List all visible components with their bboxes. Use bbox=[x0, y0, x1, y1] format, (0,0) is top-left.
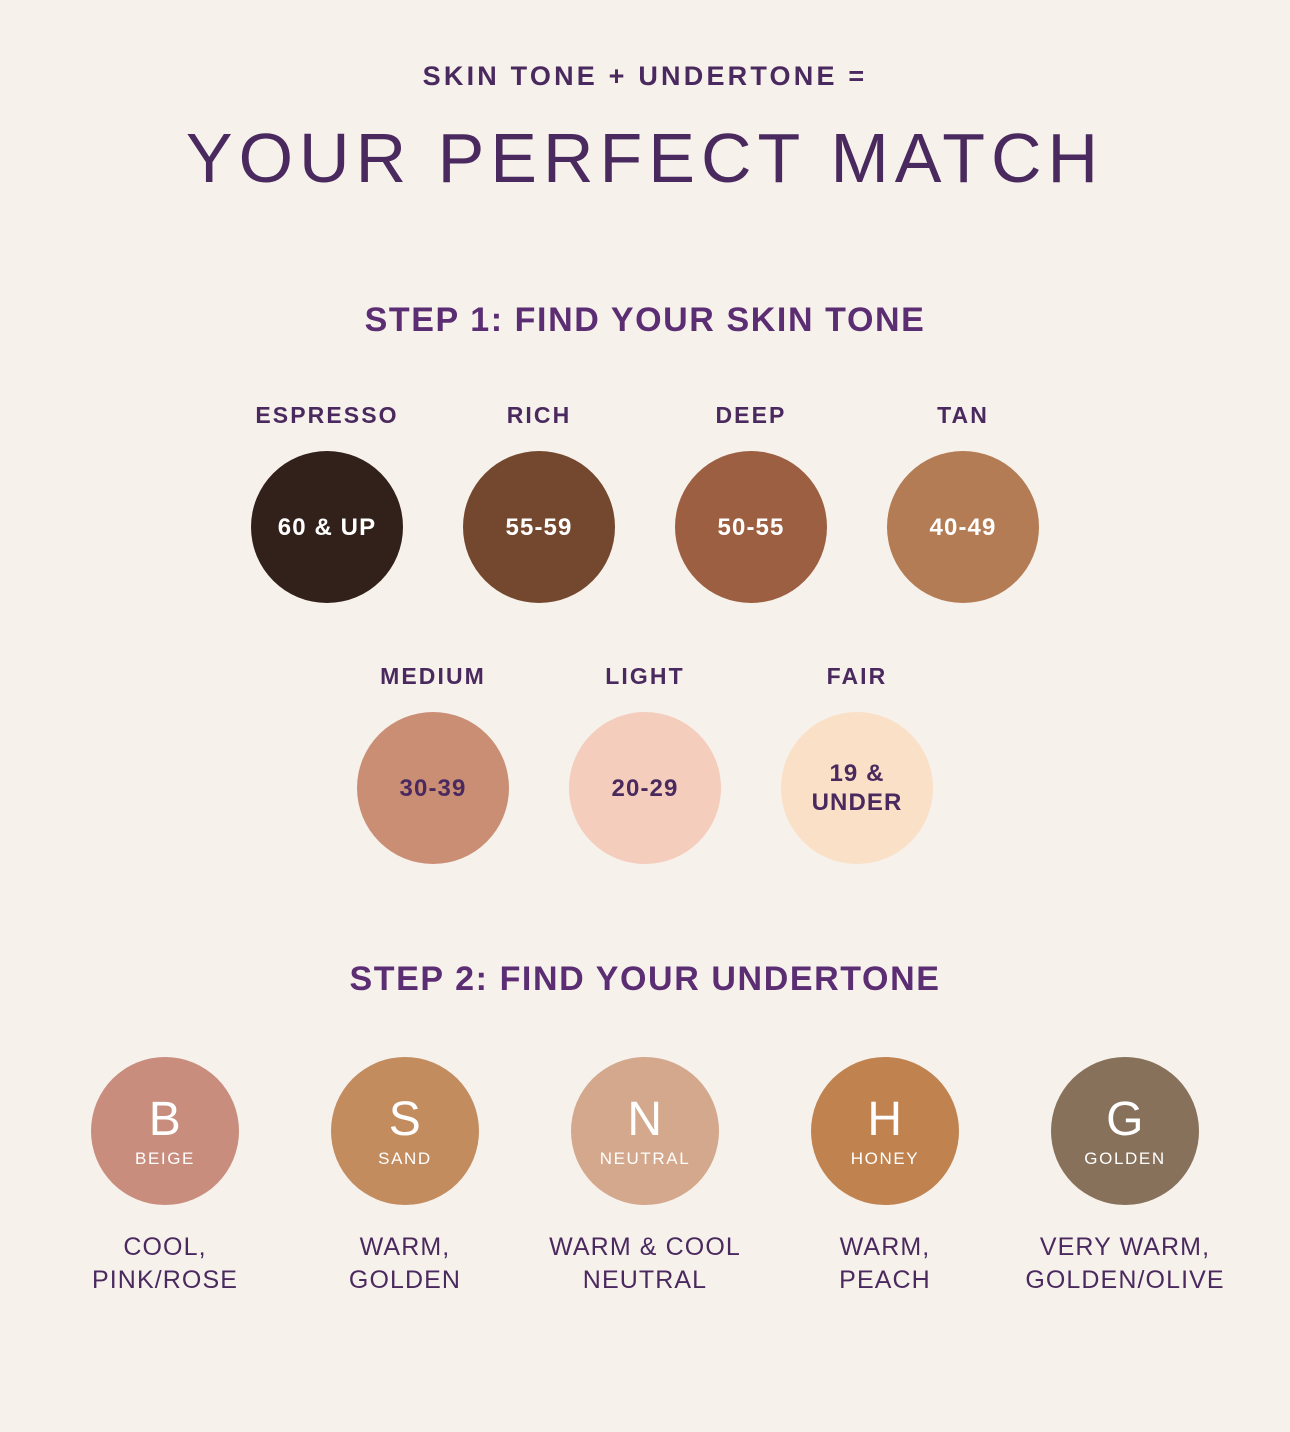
skin-tone-label: MEDIUM bbox=[380, 663, 486, 690]
undertone-swatch[interactable]: BBEIGE bbox=[91, 1057, 239, 1205]
undertone-letter: G bbox=[1106, 1096, 1144, 1144]
page-title: YOUR PERFECT MATCH bbox=[0, 122, 1290, 196]
skin-tone-swatch[interactable]: 30-39 bbox=[357, 712, 509, 864]
skin-tone-range: 40-49 bbox=[924, 513, 1003, 542]
undertone-item-sand[interactable]: SSANDWARM, GOLDEN bbox=[306, 1057, 504, 1297]
undertone-name: NEUTRAL bbox=[600, 1150, 691, 1167]
skin-tone-range: 20-29 bbox=[606, 774, 685, 803]
undertone-swatch[interactable]: NNEUTRAL bbox=[571, 1057, 719, 1205]
skin-tone-item-tan[interactable]: TAN40-49 bbox=[887, 402, 1039, 603]
skin-tone-range: 50-55 bbox=[712, 513, 791, 542]
skin-tone-item-fair[interactable]: FAIR19 & UNDER bbox=[781, 663, 933, 864]
skin-tone-label: ESPRESSO bbox=[255, 402, 398, 429]
skin-tone-range: 30-39 bbox=[394, 774, 473, 803]
skin-tone-label: DEEP bbox=[715, 402, 786, 429]
undertone-item-honey[interactable]: HHONEYWARM, PEACH bbox=[786, 1057, 984, 1297]
undertone-letter: B bbox=[149, 1096, 182, 1144]
undertone-name: HONEY bbox=[851, 1150, 919, 1167]
undertone-description: WARM & COOL NEUTRAL bbox=[549, 1231, 741, 1297]
undertone-name: BEIGE bbox=[135, 1150, 195, 1167]
skin-tone-row-1: ESPRESSO60 & UPRICH55-59DEEP50-55TAN40-4… bbox=[0, 402, 1290, 603]
skin-tone-swatch[interactable]: 20-29 bbox=[569, 712, 721, 864]
skin-tone-item-medium[interactable]: MEDIUM30-39 bbox=[357, 663, 509, 864]
skin-tone-range: 55-59 bbox=[500, 513, 579, 542]
undertone-swatch[interactable]: SSAND bbox=[331, 1057, 479, 1205]
undertone-swatch[interactable]: HHONEY bbox=[811, 1057, 959, 1205]
undertone-letter: S bbox=[389, 1096, 422, 1144]
undertone-letter: H bbox=[867, 1096, 902, 1144]
skin-tone-swatch[interactable]: 60 & UP bbox=[251, 451, 403, 603]
skin-tone-item-rich[interactable]: RICH55-59 bbox=[463, 402, 615, 603]
skin-tone-item-espresso[interactable]: ESPRESSO60 & UP bbox=[251, 402, 403, 603]
undertone-description: WARM, PEACH bbox=[839, 1231, 931, 1297]
step2-heading: STEP 2: FIND YOUR UNDERTONE bbox=[0, 960, 1290, 999]
undertone-description: COOL, PINK/ROSE bbox=[92, 1231, 238, 1297]
skin-tone-label: LIGHT bbox=[605, 663, 685, 690]
skin-tone-item-light[interactable]: LIGHT20-29 bbox=[569, 663, 721, 864]
undertone-item-golden[interactable]: GGOLDENVERY WARM, GOLDEN/OLIVE bbox=[1026, 1057, 1224, 1297]
undertone-row: BBEIGECOOL, PINK/ROSESSANDWARM, GOLDENNN… bbox=[0, 1057, 1290, 1297]
undertone-description: WARM, GOLDEN bbox=[349, 1231, 461, 1297]
skin-tone-swatch[interactable]: 40-49 bbox=[887, 451, 1039, 603]
skin-tone-label: FAIR bbox=[827, 663, 888, 690]
skin-tone-range: 19 & UNDER bbox=[806, 759, 909, 818]
eyebrow-text: SKIN TONE + UNDERTONE = bbox=[0, 62, 1290, 92]
skin-tone-item-deep[interactable]: DEEP50-55 bbox=[675, 402, 827, 603]
header: SKIN TONE + UNDERTONE = YOUR PERFECT MAT… bbox=[0, 0, 1290, 195]
infographic-page: SKIN TONE + UNDERTONE = YOUR PERFECT MAT… bbox=[0, 0, 1290, 1432]
skin-tone-swatch[interactable]: 19 & UNDER bbox=[781, 712, 933, 864]
undertone-name: SAND bbox=[378, 1150, 432, 1167]
undertone-description: VERY WARM, GOLDEN/OLIVE bbox=[1025, 1231, 1224, 1297]
skin-tone-swatch[interactable]: 50-55 bbox=[675, 451, 827, 603]
step1-heading: STEP 1: FIND YOUR SKIN TONE bbox=[0, 301, 1290, 340]
skin-tone-range: 60 & UP bbox=[272, 513, 382, 542]
skin-tone-label: RICH bbox=[507, 402, 572, 429]
undertone-swatch[interactable]: GGOLDEN bbox=[1051, 1057, 1199, 1205]
skin-tone-label: TAN bbox=[937, 402, 989, 429]
skin-tone-row-2: MEDIUM30-39LIGHT20-29FAIR19 & UNDER bbox=[0, 663, 1290, 864]
undertone-name: GOLDEN bbox=[1084, 1150, 1165, 1167]
undertone-letter: N bbox=[627, 1096, 662, 1144]
undertone-item-neutral[interactable]: NNEUTRALWARM & COOL NEUTRAL bbox=[546, 1057, 744, 1297]
undertone-item-beige[interactable]: BBEIGECOOL, PINK/ROSE bbox=[66, 1057, 264, 1297]
skin-tone-swatch[interactable]: 55-59 bbox=[463, 451, 615, 603]
